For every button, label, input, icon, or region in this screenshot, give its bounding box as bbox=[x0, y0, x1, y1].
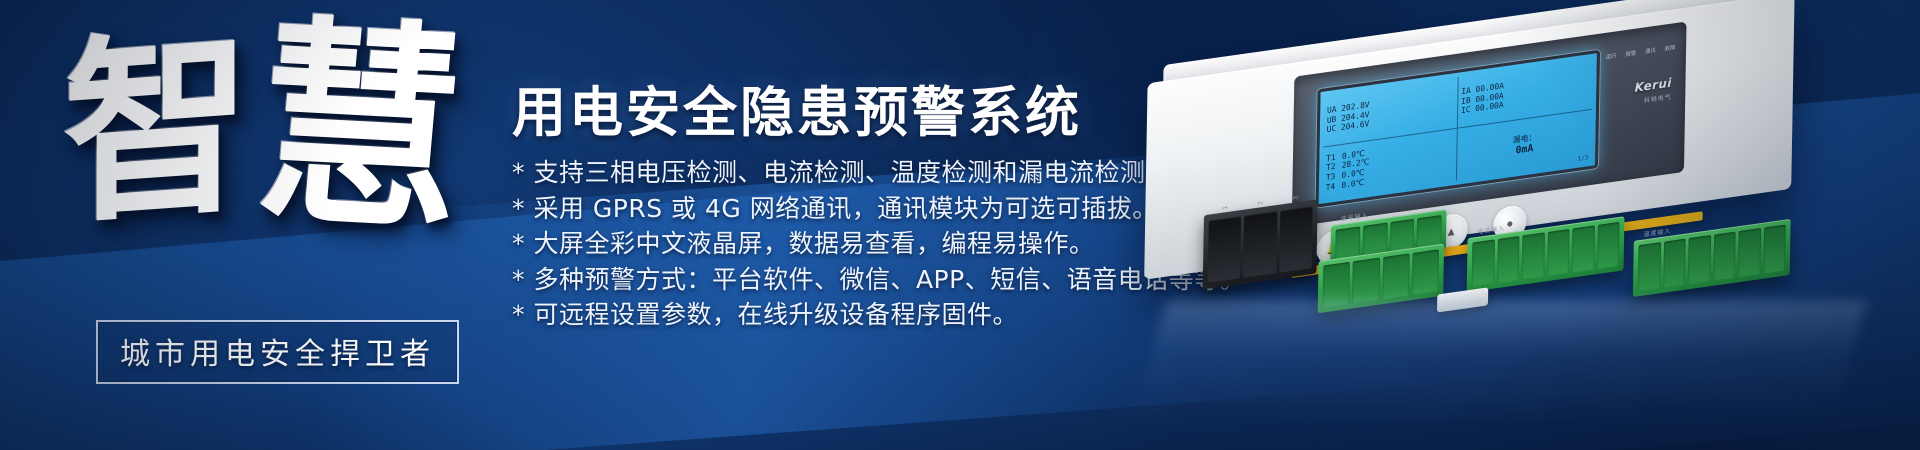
terminal-pin bbox=[1497, 236, 1520, 283]
terminal-pin-label: 2 bbox=[1257, 200, 1264, 205]
terminal-pin bbox=[1688, 235, 1711, 284]
lcd-display: UA 202.8V UB 204.4V UC 204.6V IA 00.00A … bbox=[1316, 50, 1600, 208]
product-device: UA 202.8V UB 204.4V UC 204.6V IA 00.00A … bbox=[1103, 0, 1893, 403]
terminal-pin bbox=[1547, 229, 1570, 276]
terminal-pin bbox=[1713, 232, 1736, 281]
terminal-pin bbox=[1412, 249, 1439, 295]
terminal-pin bbox=[1352, 258, 1379, 304]
led-label-run: 运行 bbox=[1606, 51, 1617, 61]
terminal-pin bbox=[1572, 225, 1595, 272]
terminal-pin bbox=[1738, 228, 1761, 277]
terminal-pin bbox=[1472, 239, 1495, 286]
lcd-grid: UA 202.8V UB 204.4V UC 204.6V IA 00.00A … bbox=[1323, 58, 1593, 200]
lcd-temp-label-t4: T4 bbox=[1326, 181, 1338, 192]
led-label-fault: 故障 bbox=[1665, 43, 1676, 53]
led-indicator-strip: 运行 报警 通讯 故障 bbox=[1606, 43, 1676, 61]
terminal-pin: 2 bbox=[1243, 211, 1277, 278]
lcd-leakage-value: 0mA bbox=[1515, 143, 1533, 158]
terminal-pin bbox=[1323, 262, 1350, 308]
calligraphy-char-hui: 慧 bbox=[249, 13, 472, 242]
promo-banner: 智 慧 城市用电安全捍卫者 用电安全隐患预警系统 * 支持三相电压检测、电流检测… bbox=[0, 0, 1920, 450]
din-rail-clip bbox=[1437, 287, 1488, 312]
terminal-pin bbox=[1763, 225, 1786, 274]
tagline-text: 城市用电安全捍卫者 bbox=[120, 329, 435, 373]
lcd-temp-value-t4: 0.0℃ bbox=[1341, 178, 1364, 191]
led-label-comm: 通讯 bbox=[1645, 46, 1656, 56]
brand-sublabel: 科锐电气 bbox=[1644, 92, 1672, 105]
terminal-pin: 3 bbox=[1279, 206, 1313, 273]
terminal-pin bbox=[1382, 253, 1409, 299]
device-body: UA 202.8V UB 204.4V UC 204.6V IA 00.00A … bbox=[1144, 0, 1794, 280]
led-label-alarm: 报警 bbox=[1625, 49, 1636, 59]
lcd-page-indicator: 1/3 bbox=[1578, 154, 1589, 163]
terminal-pin: 1 bbox=[1208, 216, 1242, 283]
tagline-box: 城市用电安全捍卫者 bbox=[96, 320, 459, 384]
terminal-pin bbox=[1638, 242, 1661, 291]
terminal-pin bbox=[1597, 222, 1620, 269]
terminal-pin bbox=[1522, 232, 1545, 279]
terminal-pin bbox=[1663, 239, 1686, 288]
terminal-pin-label: 1 bbox=[1222, 205, 1229, 210]
calligraphy-char-zhi: 智 bbox=[63, 24, 251, 233]
calligraphy-wordmark: 智 慧 bbox=[62, 18, 482, 303]
